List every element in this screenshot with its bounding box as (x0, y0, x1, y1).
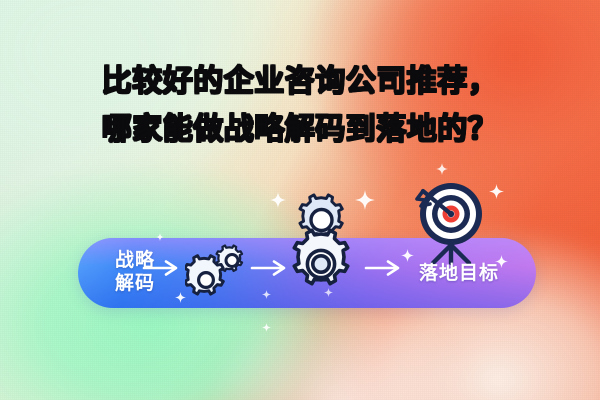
target-bullseye-icon (411, 179, 491, 271)
arrow-right-icon (364, 258, 404, 278)
arrow-right-icon (250, 258, 290, 278)
poster-canvas: 比较好的企业咨询公司推荐， 哪家能做战略解码到落地的？ 战略 解码 (0, 0, 600, 400)
headline-line-2: 哪家能做战略解码到落地的？ (0, 110, 600, 150)
gears-large-icon (285, 188, 357, 296)
headline-line-1: 比较好的企业咨询公司推荐， (0, 62, 600, 102)
gears-small-icon (185, 243, 251, 298)
process-step-label-end: 落地目标 (404, 262, 514, 285)
page-title: 比较好的企业咨询公司推荐， 哪家能做战略解码到落地的？ (0, 62, 600, 150)
arrow-right-icon (142, 258, 182, 278)
